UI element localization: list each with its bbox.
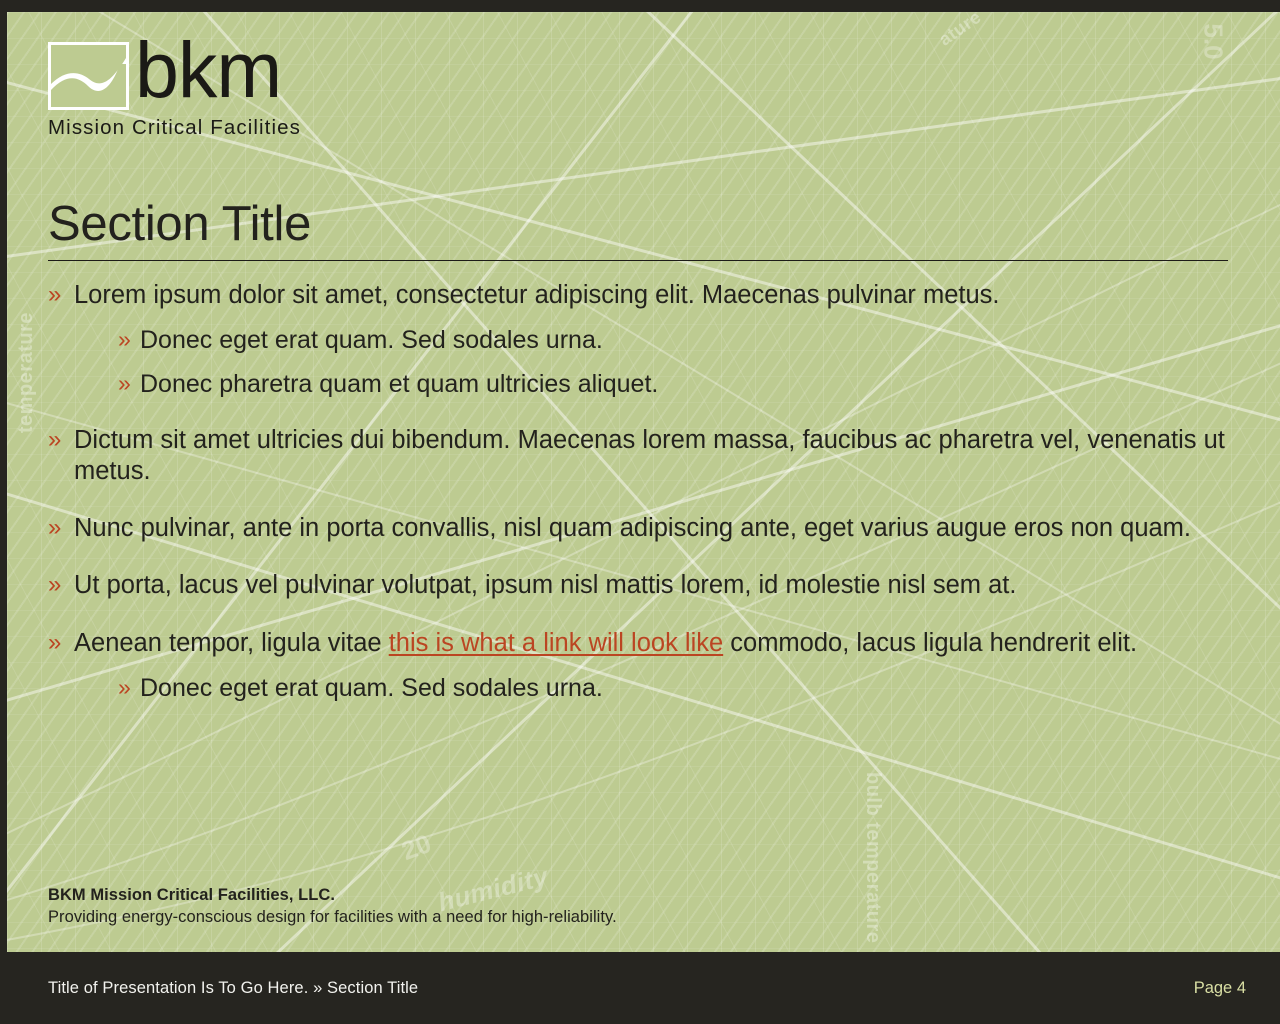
- bullet-text: Ut porta, lacus vel pulvinar volutpat, i…: [74, 570, 1016, 601]
- bullet-marker-icon: »: [48, 628, 74, 657]
- brand-logo: bkm Mission Critical Facilities: [48, 42, 301, 140]
- bullet-text: Aenean tempor, ligula vitae this is what…: [74, 628, 1137, 659]
- bullet-text-before-link: Aenean tempor, ligula vitae: [74, 629, 389, 657]
- bullet-item: » Lorem ipsum dolor sit amet, consectetu…: [48, 280, 1228, 311]
- bullet-text: Nunc pulvinar, ante in porta convallis, …: [74, 513, 1191, 544]
- bullet-marker-icon: »: [48, 425, 74, 454]
- bg-number-top-right: 5.0: [1198, 23, 1229, 59]
- footer-page-number: Page 4: [1194, 979, 1246, 998]
- bullet-item: » Ut porta, lacus vel pulvinar volutpat,…: [48, 570, 1228, 601]
- bullet-item: » Donec eget erat quam. Sed sodales urna…: [118, 325, 1228, 356]
- page-title: Section Title: [48, 196, 311, 252]
- bullet-marker-icon: »: [48, 513, 74, 542]
- slide-body: » Lorem ipsum dolor sit amet, consectetu…: [48, 280, 1228, 716]
- slide: Humidity ratio (W) – pounds moisture per…: [0, 0, 1280, 1024]
- company-name: BKM Mission Critical Facilities, LLC.: [48, 886, 617, 905]
- bullet-marker-icon: »: [48, 280, 74, 309]
- bullet-item: » Donec eget erat quam. Sed sodales urna…: [118, 673, 1228, 704]
- company-tagline: BKM Mission Critical Facilities, LLC. Pr…: [48, 886, 617, 927]
- bullet-text: Dictum sit amet ultricies dui bibendum. …: [74, 425, 1228, 487]
- title-divider: [48, 260, 1228, 261]
- footer-bar: Title of Presentation Is To Go Here. » S…: [0, 952, 1280, 1024]
- footer-breadcrumb: Title of Presentation Is To Go Here. » S…: [48, 979, 418, 998]
- bullet-item: » Dictum sit amet ultricies dui bibendum…: [48, 425, 1228, 487]
- top-bar: [0, 0, 1280, 12]
- inline-link[interactable]: this is what a link will look like: [389, 629, 723, 657]
- bullet-marker-icon: »: [48, 570, 74, 599]
- bullet-item-with-link: » Aenean tempor, ligula vitae this is wh…: [48, 628, 1228, 659]
- bullet-text: Donec pharetra quam et quam ultricies al…: [140, 369, 658, 400]
- logo-wordmark: bkm: [135, 38, 281, 103]
- bullet-marker-icon: »: [118, 673, 140, 701]
- logo-tagline: Mission Critical Facilities: [48, 116, 301, 140]
- bkm-curve-mark-icon: [48, 42, 129, 110]
- company-statement: Providing energy-conscious design for fa…: [48, 908, 617, 927]
- bullet-text: Donec eget erat quam. Sed sodales urna.: [140, 325, 603, 356]
- left-bar: [0, 0, 7, 1024]
- bullet-item: » Donec pharetra quam et quam ultricies …: [118, 369, 1228, 400]
- bullet-text: Donec eget erat quam. Sed sodales urna.: [140, 673, 603, 704]
- bullet-marker-icon: »: [118, 369, 140, 397]
- bullet-item: » Nunc pulvinar, ante in porta convallis…: [48, 513, 1228, 544]
- bullet-text: Lorem ipsum dolor sit amet, consectetur …: [74, 280, 1000, 311]
- bullet-marker-icon: »: [118, 325, 140, 353]
- bullet-text-after-link: commodo, lacus ligula hendrerit elit.: [723, 629, 1137, 657]
